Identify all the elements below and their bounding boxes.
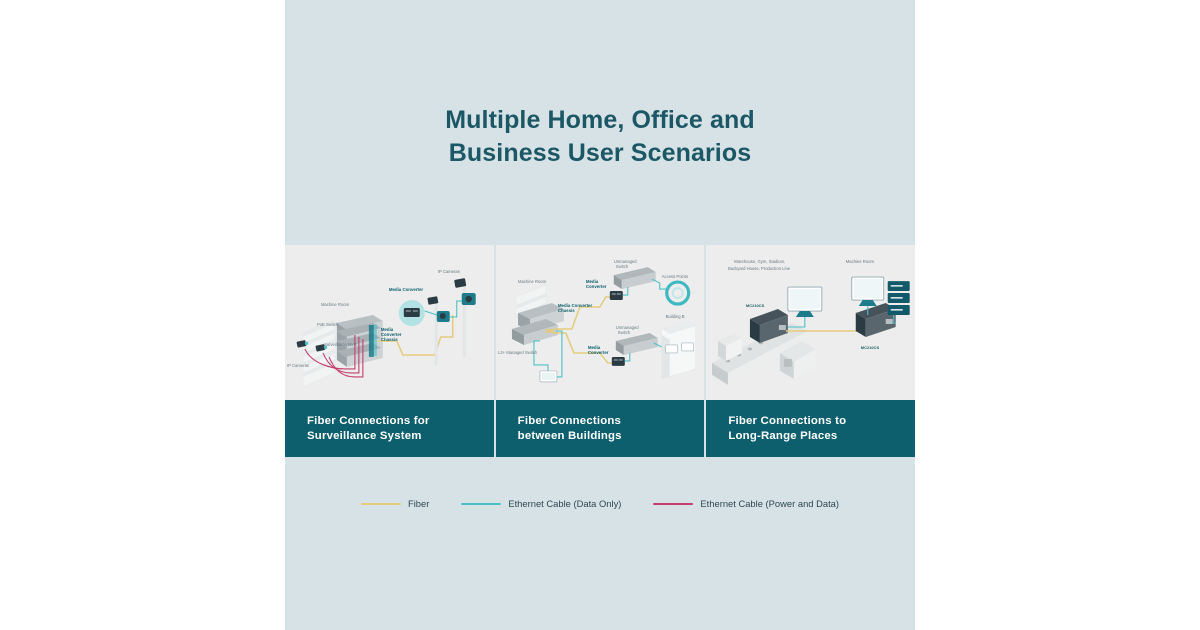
label-media-converter: Media Converter	[389, 287, 424, 292]
infographic-page: Multiple Home, Office and Business User …	[0, 0, 1200, 630]
legend: Fiber Ethernet Cable (Data Only) Etherne…	[285, 498, 915, 509]
media-converter-bottom	[611, 357, 624, 366]
monitor-right	[852, 277, 884, 306]
panel-between-buildings-diagram: .l2 { font-family:"Liberation Sans",sans…	[496, 245, 705, 400]
panel-long-range-diagram: .l3 { font-family:"Liberation Sans",sans…	[706, 245, 915, 400]
unmanaged-switch-top	[613, 267, 655, 289]
legend-label-ethernet-power-data: Ethernet Cable (Power and Data)	[700, 498, 839, 509]
legend-label-fiber: Fiber	[408, 498, 429, 509]
label-ip-cameras-right: IP Cameras	[438, 269, 460, 274]
label-media-converter-top-2: Converter	[586, 284, 607, 289]
server-rack	[888, 281, 910, 315]
monitor-left	[788, 287, 822, 317]
unmanaged-switch-bottom	[615, 333, 657, 355]
scenario-panels: .lbl { font-family:"Liberation Sans",san…	[285, 245, 915, 457]
panel-surveillance-caption-line-2: Surveillance System	[307, 429, 494, 444]
label-building-b: Building B	[665, 314, 684, 319]
media-converter-chassis-rack	[337, 315, 383, 367]
label-machine-room: Machine Room	[846, 259, 875, 264]
label-model-right: MC210CS	[861, 345, 880, 350]
label-mc-chassis-line-2: Chassis	[558, 308, 575, 313]
panel-long-range-caption: Fiber Connections to Long-Range Places	[706, 400, 915, 457]
panel-surveillance[interactable]: .lbl { font-family:"Liberation Sans",san…	[285, 245, 494, 457]
panel-between-buildings-caption: Fiber Connections between Buildings	[496, 400, 705, 457]
label-machine-room: Machine Room	[518, 279, 547, 284]
legend-item-ethernet-power-data: Ethernet Cable (Power and Data)	[653, 498, 839, 509]
ip-camera-right-box-2	[462, 293, 476, 305]
label-unmanaged-switch-top-2: Switch	[615, 264, 628, 269]
panel-between-buildings-caption-line-2: between Buildings	[518, 429, 705, 444]
label-machine-room: Machine Room	[321, 302, 350, 307]
label-site-line-1: Warehouse, Gym, Stadium,	[734, 259, 785, 264]
label-access-points: Access Points	[661, 274, 687, 279]
legend-swatch-ethernet-power-data	[653, 503, 693, 505]
label-surveillance-nvr: Surveillance NVR	[324, 342, 357, 347]
label-ip-cameras-left: IP Cameras	[287, 363, 309, 368]
panel-long-range-caption-line-1: Fiber Connections to	[728, 414, 915, 429]
access-point	[666, 282, 688, 304]
label-model-left: MC210CS	[746, 303, 765, 308]
label-l2-managed-switch: L2+ Managed Switch	[498, 350, 538, 355]
media-converter-top	[609, 291, 622, 300]
label-unmanaged-switch-bot-2: Switch	[617, 330, 630, 335]
label-mc-chassis-3: Chassis	[381, 337, 398, 342]
panel-surveillance-caption: Fiber Connections for Surveillance Syste…	[285, 400, 494, 457]
media-converter-node	[399, 300, 425, 326]
label-media-converter-bot-2: Converter	[588, 350, 609, 355]
legend-item-ethernet-data: Ethernet Cable (Data Only)	[461, 498, 621, 509]
content-canvas: Multiple Home, Office and Business User …	[285, 0, 915, 630]
panel-surveillance-caption-line-1: Fiber Connections for	[307, 414, 494, 429]
panel-between-buildings-caption-line-1: Fiber Connections	[518, 414, 705, 429]
page-title: Multiple Home, Office and Business User …	[285, 104, 915, 170]
panel-long-range[interactable]: .l3 { font-family:"Liberation Sans",sans…	[706, 245, 915, 457]
label-site-line-2: Backyard House, Production Line	[728, 266, 791, 271]
page-title-line-1: Multiple Home, Office and	[285, 104, 915, 137]
ip-camera-right-box-1	[437, 311, 450, 322]
label-poe-switch: PoE Switch	[317, 322, 339, 327]
page-title-line-2: Business User Scenarios	[285, 137, 915, 170]
panel-between-buildings[interactable]: .l2 { font-family:"Liberation Sans",sans…	[496, 245, 705, 457]
panel-surveillance-diagram: .lbl { font-family:"Liberation Sans",san…	[285, 245, 494, 400]
panel-long-range-caption-line-2: Long-Range Places	[728, 429, 915, 444]
legend-swatch-fiber	[361, 503, 401, 505]
client-monitor	[540, 371, 557, 382]
legend-label-ethernet-data: Ethernet Cable (Data Only)	[508, 498, 621, 509]
legend-item-fiber: Fiber	[361, 498, 429, 509]
legend-swatch-ethernet-data	[461, 503, 501, 505]
